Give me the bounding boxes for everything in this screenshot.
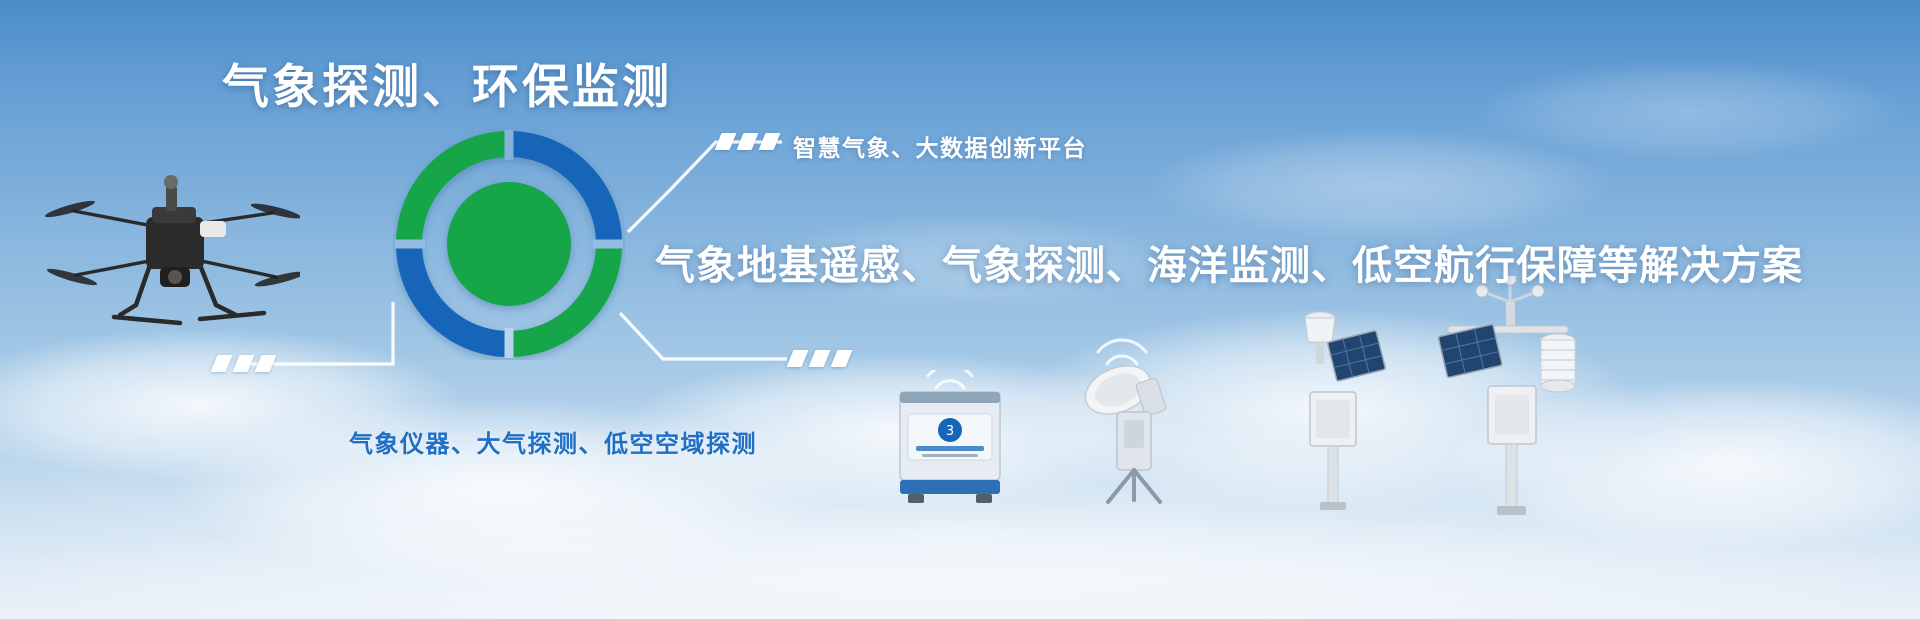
circular-ring-graphic [393, 128, 625, 360]
dash-marks-top-right [718, 133, 777, 150]
dash-mark [255, 355, 277, 372]
dash-mark [211, 355, 233, 372]
callout-top-right-label: 智慧气象、大数据创新平台 [793, 129, 1087, 163]
weather-detection-banner: 3 [0, 0, 1920, 619]
dash-mark [787, 350, 809, 367]
cloud-decoration [1480, 60, 1900, 160]
horizon-haze [0, 520, 1920, 619]
svg-text:3: 3 [946, 424, 954, 439]
page-title: 气象探测、环保监测 [222, 48, 672, 117]
laser-radar-cabinet: 3 [890, 370, 1010, 505]
quadcopter-drone-photo [40, 155, 300, 345]
satellite-dish-tripod [1062, 320, 1192, 505]
solar-weather-station-left [1282, 296, 1392, 511]
dash-mark [809, 350, 831, 367]
dash-mark [831, 350, 853, 367]
dash-mark [233, 355, 255, 372]
dash-marks-bottom-right [790, 350, 849, 367]
dash-mark [737, 133, 759, 150]
dash-mark [715, 133, 737, 150]
dash-mark [759, 133, 781, 150]
cloud-decoration [1150, 130, 1610, 240]
dash-marks-bottom-left [214, 355, 273, 372]
callout-bottom-left-label: 气象仪器、大气探测、低空空域探测 [349, 424, 757, 459]
main-solution-text: 气象地基遥感、气象探测、海洋监测、低空航行保障等解决方案 [655, 233, 1803, 291]
solar-weather-station-right [1418, 276, 1593, 516]
